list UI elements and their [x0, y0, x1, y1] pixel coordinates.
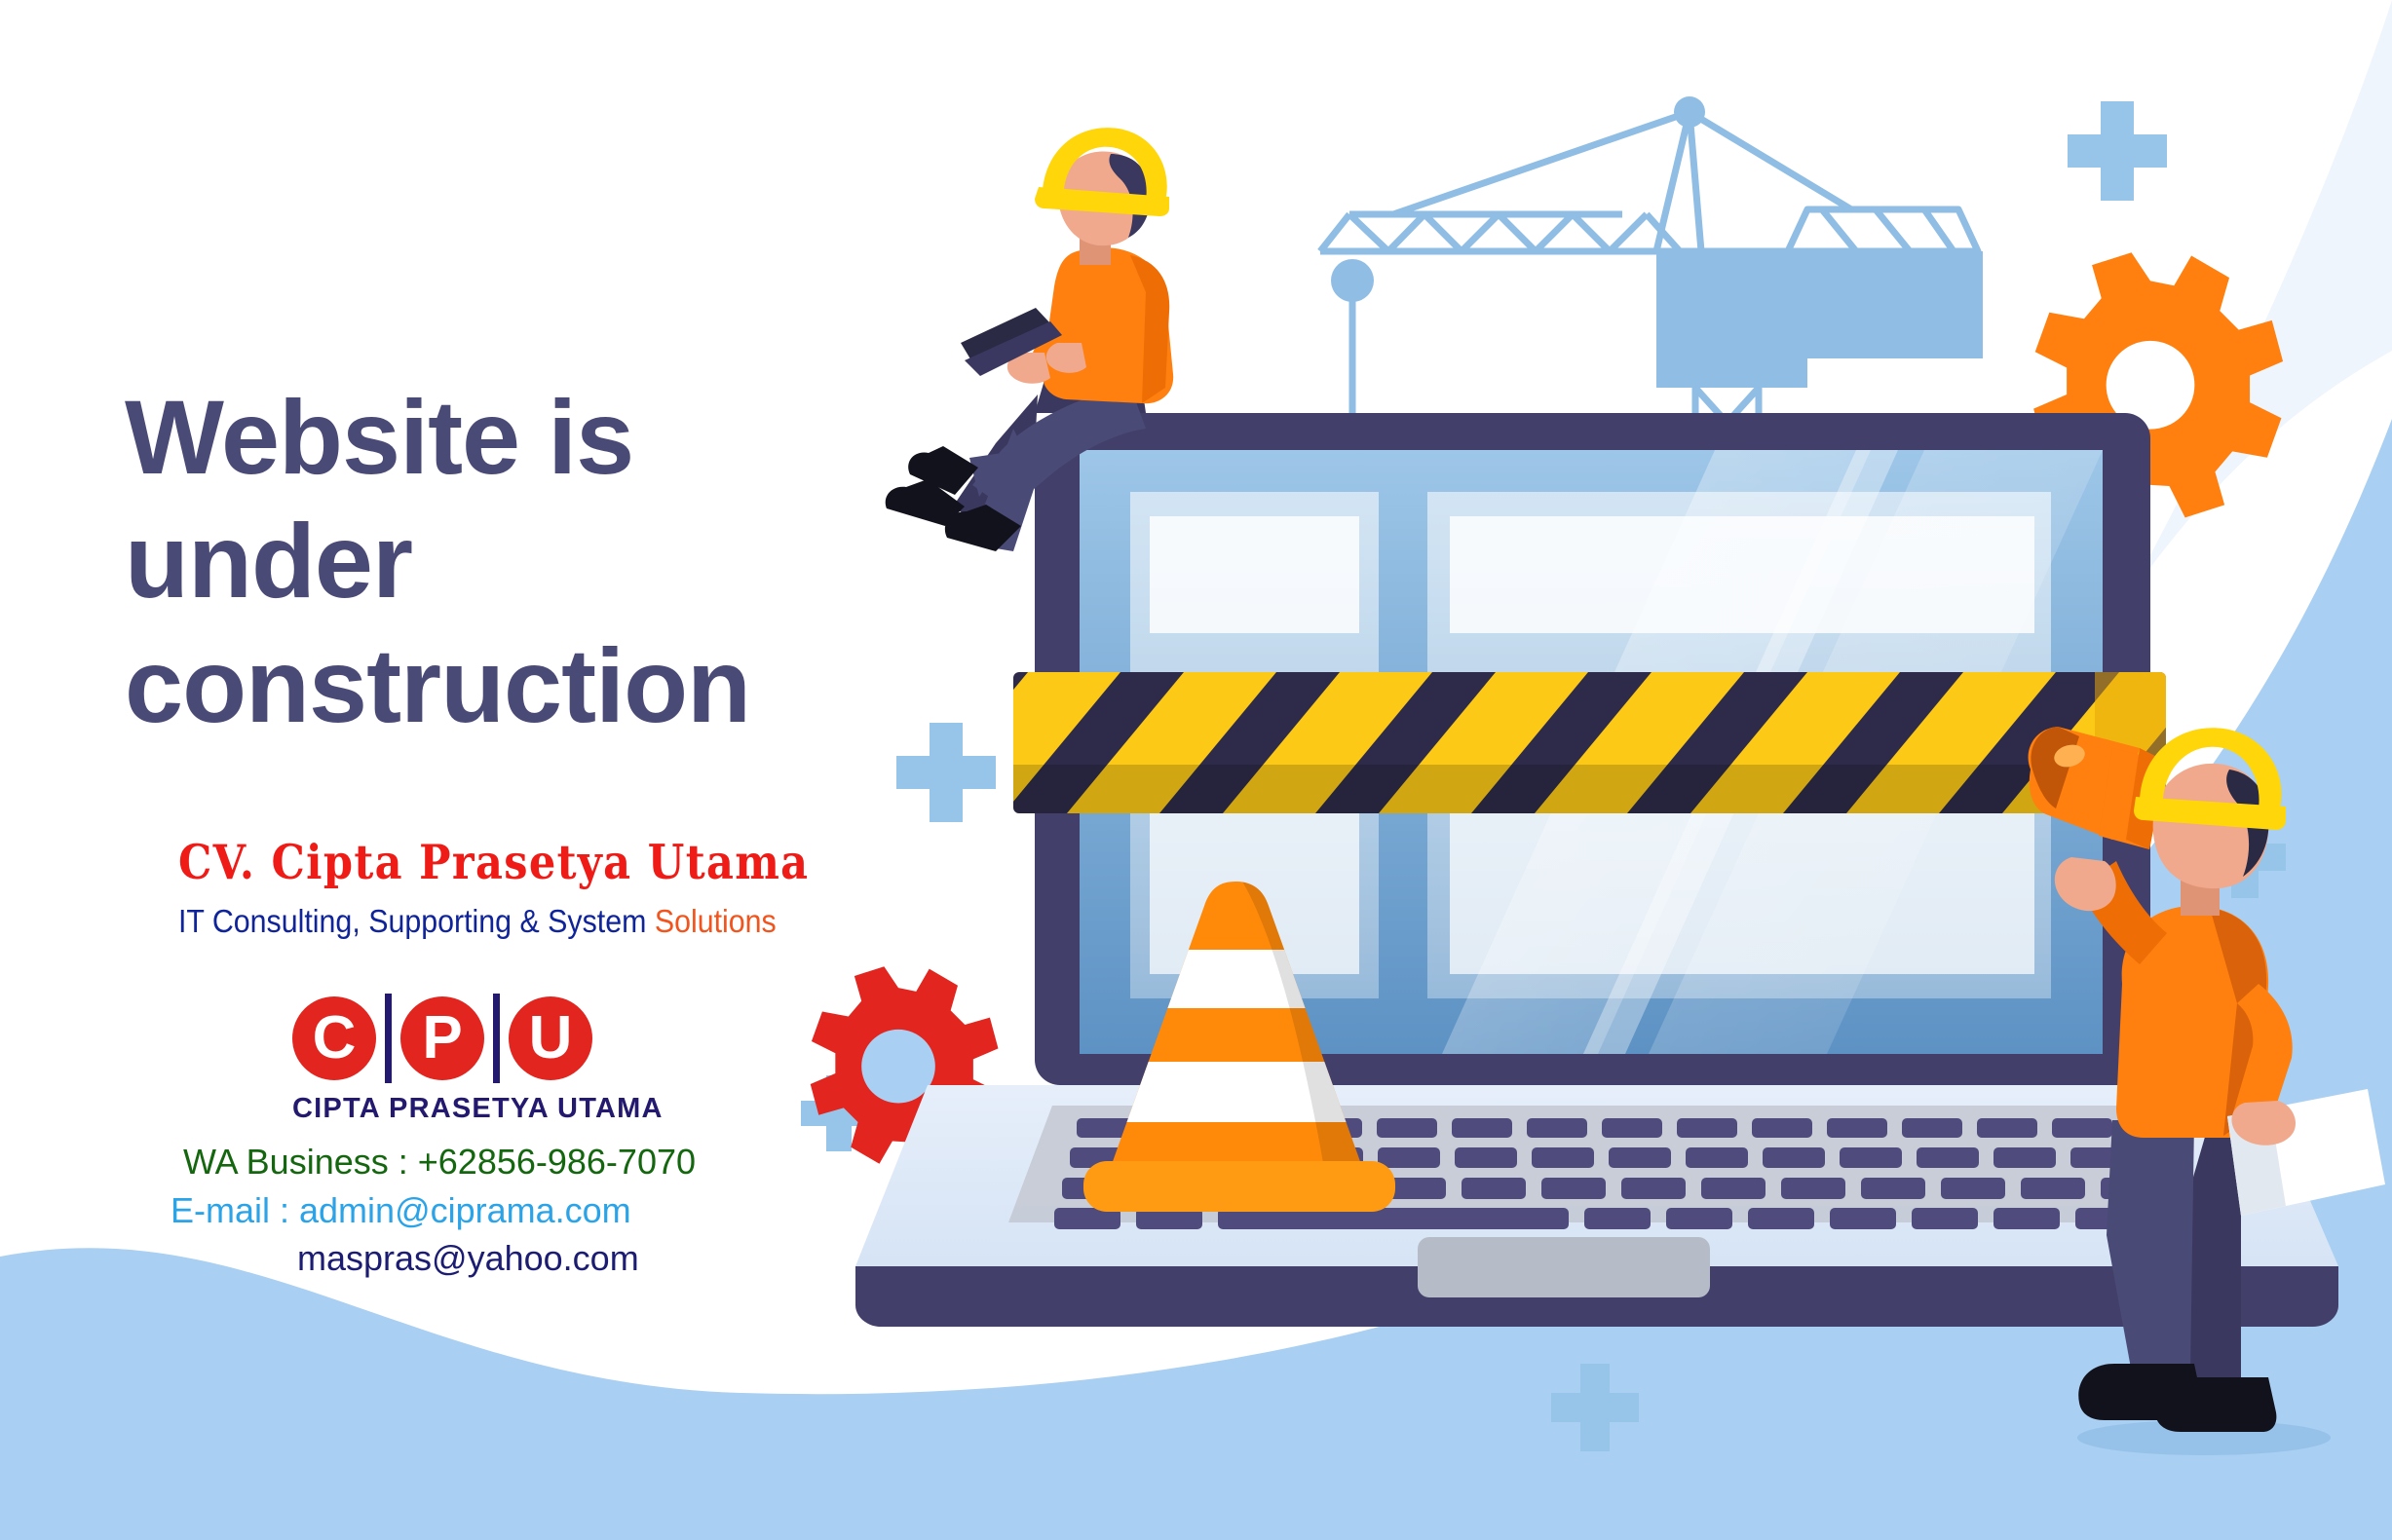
- brand-tagline: IT Consulting, Supporting & System Solut…: [178, 903, 895, 940]
- contact-email-alt[interactable]: maspras@yahoo.com: [0, 1234, 740, 1283]
- contact-whatsapp[interactable]: WA Business : +62856-986-7070: [0, 1138, 740, 1186]
- page-title: Website is under construction: [125, 375, 865, 747]
- headline-line-3: construction: [125, 623, 865, 747]
- logo-divider-bar: [385, 994, 392, 1083]
- caution-barrier: [911, 672, 2212, 813]
- tagline-accent: Solutions: [655, 903, 777, 939]
- plus-icon: [1551, 1364, 1639, 1451]
- logo-divider-bar: [493, 994, 500, 1083]
- headline-line-1: Website is: [125, 375, 865, 499]
- headline-line-2: under: [125, 499, 865, 622]
- brand-name: CV. Cipta Prasetya Utama: [178, 834, 830, 890]
- laptop-trackpad: [1418, 1237, 1710, 1297]
- logo-wordmark: CIPTA PRASETYA UTAMA: [292, 1093, 664, 1125]
- logo-disc-p: P: [400, 996, 484, 1080]
- cone-base: [1083, 1161, 1395, 1212]
- illustration: [0, 0, 2392, 1540]
- poster-canvas: Website is under construction CV. Cipta …: [0, 0, 2392, 1540]
- cpu-logo-discs: C P U: [292, 994, 664, 1083]
- plus-icon: [896, 723, 996, 822]
- logo-disc-u: U: [509, 996, 592, 1080]
- plus-icon: [2068, 101, 2167, 201]
- contact-email[interactable]: E-mail : admin@ciprama.com: [0, 1186, 740, 1235]
- logo-disc-c: C: [292, 996, 376, 1080]
- tagline-main: IT Consulting, Supporting & System: [178, 903, 655, 939]
- contact-block: WA Business : +62856-986-7070 E-mail : a…: [0, 1138, 740, 1283]
- cpu-logo: C P U CIPTA PRASETYA UTAMA: [292, 994, 664, 1125]
